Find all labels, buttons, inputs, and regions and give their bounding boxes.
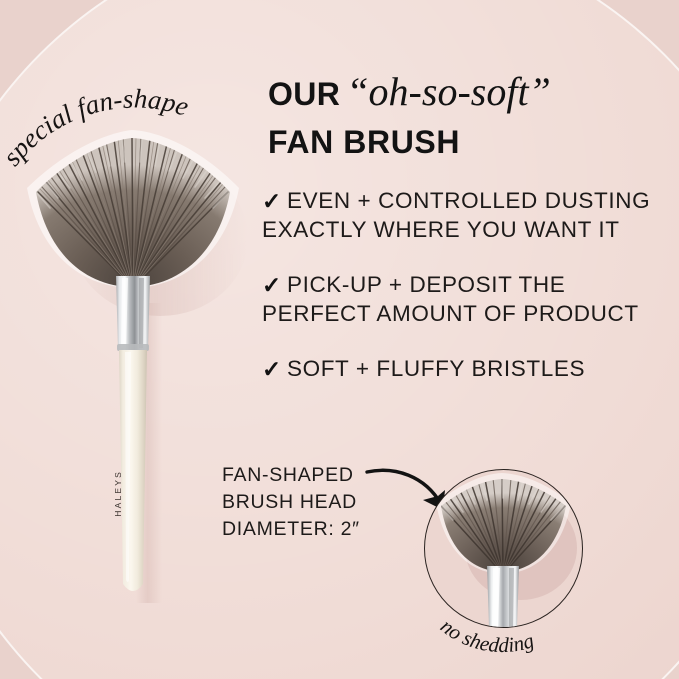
headline-our: OUR xyxy=(268,76,340,112)
headline-line-2: FAN BRUSH xyxy=(268,124,668,161)
caption-line-3: DIAMETER: 2″ xyxy=(222,516,360,543)
no-shedding-label: no shedding xyxy=(418,604,590,664)
no-shedding-textpath: no shedding xyxy=(436,614,537,657)
check-icon: ✓ xyxy=(262,271,287,300)
check-icon: ✓ xyxy=(262,187,287,216)
diameter-caption: FAN-SHAPED BRUSH HEAD DIAMETER: 2″ xyxy=(222,462,360,543)
special-fan-shape-text: special fan-shape xyxy=(4,83,192,171)
special-fan-shape-label: special fan-shape xyxy=(4,40,274,180)
brand-label: HALEYS xyxy=(113,470,129,517)
feature-list: ✓EVEN + CONTROLLED DUSTING EXACTLY WHERE… xyxy=(262,186,670,383)
check-icon: ✓ xyxy=(262,355,287,384)
product-infographic: HALEYS special fan-shape OUR“oh-so-soft”… xyxy=(0,0,679,679)
feature-text: EVEN + CONTROLLED DUSTING EXACTLY WHERE … xyxy=(262,188,650,242)
special-fan-shape-textpath: special fan-shape xyxy=(4,83,192,171)
headline-block: OUR“oh-so-soft” FAN BRUSH xyxy=(268,72,668,161)
feature-text: SOFT + FLUFFY BRISTLES xyxy=(287,356,585,381)
feature-item: ✓PICK-UP + DEPOSIT THE PERFECT AMOUNT OF… xyxy=(262,270,670,328)
feature-item: ✓SOFT + FLUFFY BRISTLES xyxy=(262,354,670,383)
brush-ferrule xyxy=(116,276,150,350)
caption-line-1: FAN-SHAPED xyxy=(222,462,360,489)
caption-line-2: BRUSH HEAD xyxy=(222,489,360,516)
feature-text: PICK-UP + DEPOSIT THE PERFECT AMOUNT OF … xyxy=(262,272,639,326)
headline-line-1: OUR“oh-so-soft” xyxy=(268,72,668,114)
headline-quoted: “oh-so-soft” xyxy=(346,69,551,114)
no-shedding-text: no shedding xyxy=(436,614,537,657)
feature-item: ✓EVEN + CONTROLLED DUSTING EXACTLY WHERE… xyxy=(262,186,670,244)
